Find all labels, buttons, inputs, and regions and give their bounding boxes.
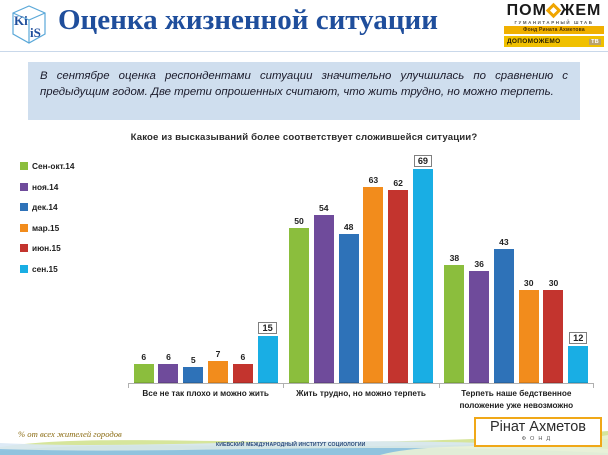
kiis-logo: Ki iS bbox=[6, 3, 52, 47]
bar-column[interactable]: 50 bbox=[289, 150, 309, 383]
bar-column[interactable]: 30 bbox=[543, 150, 563, 383]
bar-value-label: 6 bbox=[141, 352, 146, 362]
bar[interactable] bbox=[388, 190, 408, 383]
bar[interactable] bbox=[233, 364, 253, 383]
bar[interactable] bbox=[363, 187, 383, 383]
chart-plot-area: 6657615505448636269383643303012 bbox=[128, 150, 594, 384]
pomozhem-word-left: ПОМ bbox=[507, 2, 547, 19]
bar-column[interactable]: 12 bbox=[568, 150, 588, 383]
bar-column[interactable]: 7 bbox=[208, 150, 228, 383]
legend-swatch-icon bbox=[20, 203, 28, 211]
bar-column[interactable]: 30 bbox=[519, 150, 539, 383]
pomozhem-logo: ПОМЖЕМ ГУМАНИТАРНЫЙ ШТАБ Фонд Рината Ахм… bbox=[504, 2, 604, 48]
pomozhem-wordmark: ПОМЖЕМ bbox=[504, 2, 604, 19]
bar-value-label: 5 bbox=[191, 355, 196, 365]
legend-swatch-icon bbox=[20, 244, 28, 252]
bar[interactable] bbox=[519, 290, 539, 383]
bar-group-3: 383643303012 bbox=[439, 150, 594, 383]
legend-item-4[interactable]: мар.15 bbox=[20, 218, 128, 239]
dopomozhemo-label: ДОПОМОЖЕМО bbox=[507, 38, 560, 45]
bar-value-label: 63 bbox=[369, 175, 379, 185]
summary-callout: В сентябре оценка респондентами ситуации… bbox=[28, 62, 580, 120]
bar[interactable] bbox=[339, 234, 359, 383]
bar[interactable] bbox=[469, 271, 489, 383]
bar-column[interactable]: 63 bbox=[363, 150, 383, 383]
category-label-2: Жить трудно, но можно терпеть bbox=[283, 388, 438, 400]
category-label-3: Терпеть наше бедственное положение уже н… bbox=[439, 388, 594, 411]
bar[interactable] bbox=[543, 290, 563, 383]
bar-column[interactable]: 43 bbox=[494, 150, 514, 383]
bar[interactable] bbox=[444, 265, 464, 383]
legend-item-5[interactable]: июн.15 bbox=[20, 238, 128, 259]
chart-title: Какое из высказываний более соответствуе… bbox=[0, 132, 608, 143]
legend-swatch-icon bbox=[20, 183, 28, 191]
bar[interactable] bbox=[258, 336, 278, 383]
category-axis-line bbox=[128, 383, 594, 384]
bar-value-label: 12 bbox=[569, 332, 587, 344]
bar-group-2: 505448636269 bbox=[283, 150, 438, 383]
bar[interactable] bbox=[158, 364, 178, 383]
svg-text:iS: iS bbox=[30, 25, 41, 40]
legend-label: ноя.14 bbox=[32, 182, 58, 192]
chart-legend: Сен-окт.14ноя.14дек.14мар.15июн.15сен.15 bbox=[20, 156, 128, 279]
bar-value-label: 54 bbox=[319, 203, 329, 213]
bar-column[interactable]: 36 bbox=[469, 150, 489, 383]
pomozhem-fund-line: Фонд Рината Ахметова bbox=[504, 26, 604, 34]
header-divider bbox=[0, 51, 608, 52]
bar-value-label: 6 bbox=[240, 352, 245, 362]
bar-value-label: 7 bbox=[216, 349, 221, 359]
category-axis-labels: Все не так плохо и можно житьЖить трудно… bbox=[128, 388, 594, 418]
legend-label: Сен-окт.14 bbox=[32, 161, 74, 171]
legend-label: сен.15 bbox=[32, 264, 58, 274]
bar-column[interactable]: 6 bbox=[158, 150, 178, 383]
bar[interactable] bbox=[494, 249, 514, 383]
bar[interactable] bbox=[413, 169, 433, 383]
dopomozhemo-badge: ДОПОМОЖЕМО ТВ bbox=[504, 36, 604, 47]
bar-value-label: 36 bbox=[474, 259, 484, 269]
legend-item-2[interactable]: ноя.14 bbox=[20, 177, 128, 198]
slide-canvas: Ki iS Оценка жизненной ситуации ПОМЖЕМ Г… bbox=[0, 0, 608, 455]
bar[interactable] bbox=[134, 364, 154, 383]
bar-value-label: 43 bbox=[499, 237, 509, 247]
bar-column[interactable]: 54 bbox=[314, 150, 334, 383]
bar-value-label: 62 bbox=[393, 178, 403, 188]
bar-column[interactable]: 6 bbox=[233, 150, 253, 383]
legend-swatch-icon bbox=[20, 265, 28, 273]
bar[interactable] bbox=[208, 361, 228, 383]
slide-header: Ki iS Оценка жизненной ситуации ПОМЖЕМ Г… bbox=[0, 0, 608, 52]
pomozhem-subtitle: ГУМАНИТАРНЫЙ ШТАБ bbox=[504, 20, 604, 25]
category-label-1: Все не так плохо и можно жить bbox=[128, 388, 283, 400]
footer-institute: КИЕВСКИЙ МЕЖДУНАРОДНЫЙ ИНСТИТУТ СОЦИОЛОГ… bbox=[216, 442, 365, 448]
svg-text:Ki: Ki bbox=[14, 13, 28, 28]
bar-value-label: 30 bbox=[549, 278, 559, 288]
slide-footer: % от всех жителей городов КИЕВСКИЙ МЕЖДУ… bbox=[0, 415, 608, 455]
bar-value-label: 48 bbox=[344, 222, 354, 232]
bar-column[interactable]: 5 bbox=[183, 150, 203, 383]
legend-label: мар.15 bbox=[32, 223, 59, 233]
summary-text: В сентябре оценка респондентами ситуации… bbox=[40, 69, 568, 100]
bar-value-label: 30 bbox=[524, 278, 534, 288]
legend-item-3[interactable]: дек.14 bbox=[20, 197, 128, 218]
legend-item-6[interactable]: сен.15 bbox=[20, 259, 128, 280]
bar-column[interactable]: 15 bbox=[258, 150, 278, 383]
bar-column[interactable]: 48 bbox=[339, 150, 359, 383]
bar-value-label: 50 bbox=[294, 216, 304, 226]
legend-item-1[interactable]: Сен-окт.14 bbox=[20, 156, 128, 177]
bar-value-label: 6 bbox=[166, 352, 171, 362]
bar-column[interactable]: 62 bbox=[388, 150, 408, 383]
bar-value-label: 15 bbox=[258, 322, 276, 334]
legend-swatch-icon bbox=[20, 162, 28, 170]
bar[interactable] bbox=[289, 228, 309, 383]
tv-badge: ТВ bbox=[589, 39, 601, 45]
legend-label: дек.14 bbox=[32, 202, 58, 212]
fund-subtitle: ФОНД bbox=[476, 436, 600, 442]
bar[interactable] bbox=[568, 346, 588, 383]
footer-note: % от всех жителей городов bbox=[18, 429, 122, 439]
pomozhem-word-right: ЖЕМ bbox=[560, 2, 601, 19]
legend-label: июн.15 bbox=[32, 243, 61, 253]
diamond-icon bbox=[546, 3, 562, 19]
bar-group-1: 6657615 bbox=[128, 150, 283, 383]
fund-name: Рінат Ахметов bbox=[476, 418, 600, 436]
rinat-akhmetov-fund-logo: Рінат Ахметов ФОНД bbox=[474, 417, 602, 447]
bar-value-label: 38 bbox=[450, 253, 460, 263]
bar-column[interactable]: 38 bbox=[444, 150, 464, 383]
legend-swatch-icon bbox=[20, 224, 28, 232]
bar-value-label: 69 bbox=[414, 155, 432, 167]
bar-column[interactable]: 69 bbox=[413, 150, 433, 383]
bar[interactable] bbox=[314, 215, 334, 383]
page-title: Оценка жизненной ситуации bbox=[58, 4, 438, 37]
bar-column[interactable]: 6 bbox=[134, 150, 154, 383]
bar[interactable] bbox=[183, 367, 203, 383]
